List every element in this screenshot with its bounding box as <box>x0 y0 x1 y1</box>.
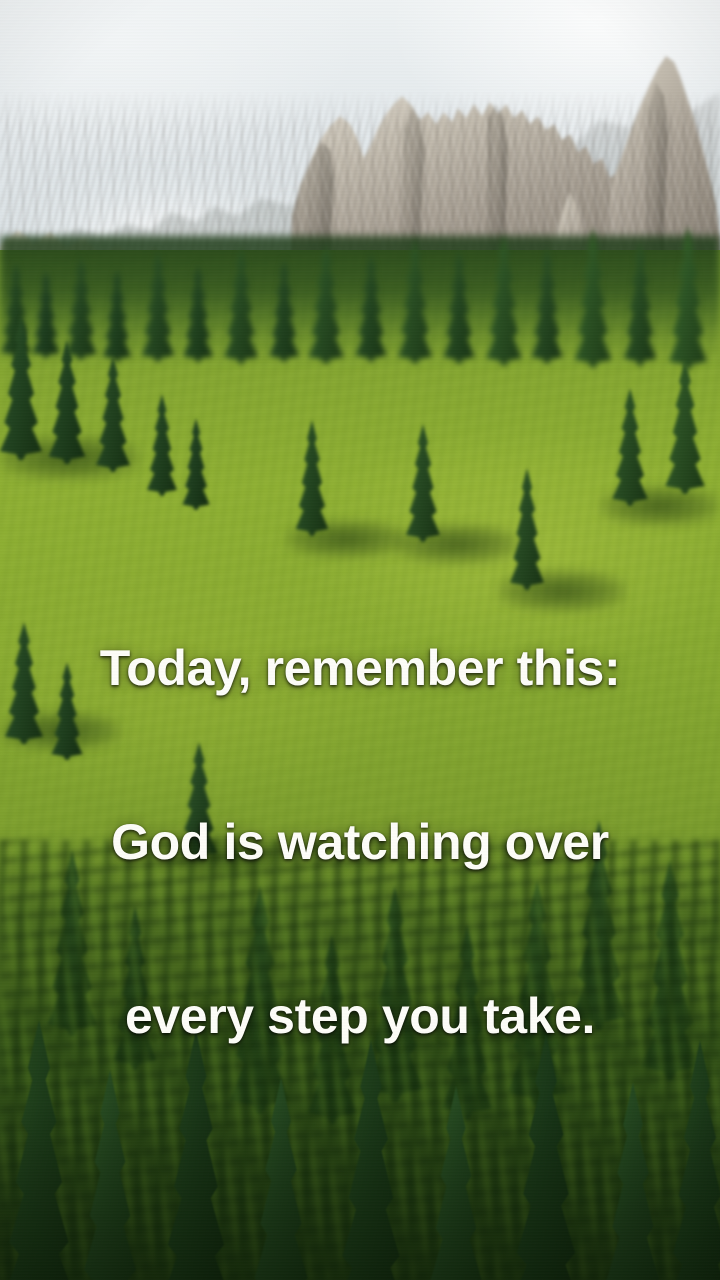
conifer-tree <box>300 244 352 364</box>
caption-line-2: God is watching over <box>0 813 720 871</box>
video-frame: Today, remember this: God is watching ov… <box>0 0 720 1280</box>
conifer-tree <box>176 418 216 510</box>
conifer-tree <box>604 388 656 506</box>
conifer-tree <box>96 268 138 362</box>
conifer-tree <box>478 234 530 366</box>
conifer-tree <box>566 228 620 368</box>
conifer-tree <box>88 356 138 472</box>
conifer-tree <box>390 238 440 364</box>
caption-line-3: every step you take. <box>0 987 720 1045</box>
conifer-tree <box>288 420 336 536</box>
conifer-tree <box>348 252 394 362</box>
conifer-tree <box>176 264 220 362</box>
conifer-tree <box>216 246 266 364</box>
conifer-tree <box>616 240 664 366</box>
conifer-tree <box>40 340 94 464</box>
conifer-tree <box>660 226 716 370</box>
conifer-tree <box>134 250 182 362</box>
conifer-tree <box>524 246 570 364</box>
conifer-tree <box>436 248 482 364</box>
conifer-tree <box>656 360 714 494</box>
caption-line-1: Today, remember this: <box>0 639 720 697</box>
caption-overlay: Today, remember this: God is watching ov… <box>0 523 720 1161</box>
